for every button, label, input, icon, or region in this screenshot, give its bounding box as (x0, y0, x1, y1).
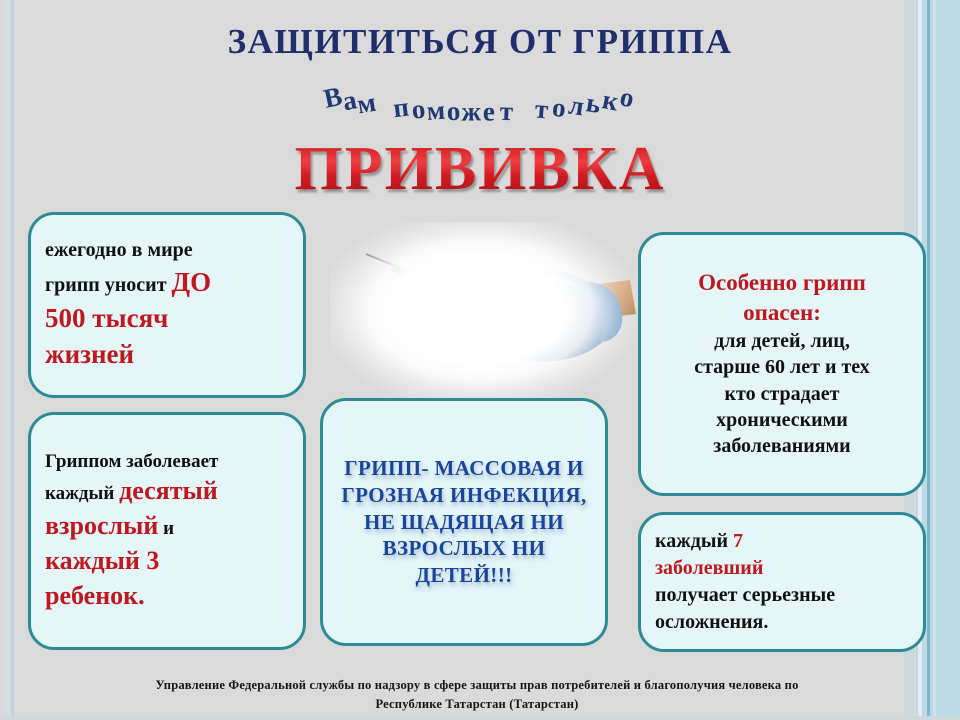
bottom-edge-stripe (0, 716, 960, 720)
subtitle-arc-char: т (534, 94, 550, 126)
poster-header: ЗАЩИТИТЬСЯ ОТ ГРИППА (0, 24, 960, 61)
subtitle-arc-char: о (410, 94, 426, 126)
tr-body1: для детей, лиц, (714, 330, 850, 352)
br-line3: получает серьезные (655, 584, 835, 606)
center-line2: ГРОЗНАЯ ИНФЕКЦИЯ, (337, 482, 591, 509)
br-line1-red: 7 (733, 530, 743, 552)
subtitle-arc-char: п (391, 92, 410, 125)
subtitle-arc-char: ь (584, 87, 603, 120)
tr-head2: опасен: (743, 300, 821, 325)
subtitle-arc-char: о (446, 96, 461, 127)
tr-body3: кто страдает (725, 383, 840, 405)
center-line5: ДЕТЕЙ!!! (337, 562, 591, 589)
page-title: ЗАЩИТИТЬСЯ ОТ ГРИППА (0, 24, 960, 61)
footer-line2: Республике Татарстан (Татарстан) (40, 695, 914, 714)
tr-head1: Особенно грипп (698, 270, 866, 295)
center-line3: НЕ ЩАДЯЩАЯ НИ (337, 509, 591, 536)
br-line2: заболевший (655, 557, 763, 579)
center-line4: ВЗРОСЛЫХ НИ (337, 535, 591, 562)
tl-line3: 500 тысяч (45, 303, 168, 333)
stat-box-annual-deaths: ежегодно в мире грипп уносит ДО 500 тыся… (28, 212, 306, 398)
subtitle-arc-char: о (551, 92, 568, 124)
tl-line2-black: грипп уносит (45, 274, 172, 296)
footer-agency: Управление Федеральной службы по надзору… (40, 676, 914, 714)
bl-line3-red: взрослый (45, 511, 158, 540)
tl-line4: жизней (45, 339, 134, 369)
risk-group-box: Особенно грипп опасен: для детей, лиц, с… (638, 232, 926, 496)
tl-line2-red: ДО (172, 267, 212, 297)
tl-line1: ежегодно в мире (45, 239, 193, 261)
subtitle-arc-char: е (483, 96, 495, 127)
message-box-mass-infection: ГРИПП- МАССОВАЯ И ГРОЗНАЯ ИНФЕКЦИЯ, НЕ Щ… (320, 398, 608, 646)
flu-vaccination-poster: ЗАЩИТИТЬСЯ ОТ ГРИППА Вам поможет только … (0, 0, 960, 720)
subtitle-arc-char: м (355, 87, 378, 121)
br-line4: осложнения. (655, 611, 768, 633)
bl-line1: Гриппом заболевает (45, 451, 218, 472)
tr-body2: старше 60 лет и тех (694, 356, 870, 378)
subtitle-arc-char (520, 95, 529, 126)
subtitle-arc-char: м (426, 95, 446, 127)
bl-line2-black: каждый (45, 483, 119, 504)
subtitle-arc-char (378, 90, 389, 122)
stat-box-incidence: Гриппом заболевает каждый десятый взросл… (28, 412, 306, 650)
tr-body5: заболеваниями (713, 435, 850, 457)
subtitle-arc-char: ж (461, 96, 481, 127)
keyword-vaccine: ПРИВИВКА (0, 138, 960, 200)
bl-line2-red: десятый (119, 476, 218, 505)
bl-line4: каждый 3 (45, 546, 159, 575)
complications-box: каждый 7 заболевший получает серьезные о… (638, 512, 926, 652)
syringe-illustration (330, 222, 648, 398)
tr-body4: хроническими (716, 409, 848, 431)
bl-line5: ребенок. (45, 581, 145, 610)
bl-line3-black: и (158, 518, 174, 539)
photo-vignette (330, 222, 648, 398)
subtitle-arc-char: т (499, 96, 513, 127)
footer-line1: Управление Федеральной службы по надзору… (40, 676, 914, 695)
center-line1: ГРИПП- МАССОВАЯ И (337, 455, 591, 482)
br-line1-black: каждый (655, 530, 733, 552)
subtitle-arc: Вам поможет только (0, 78, 960, 134)
